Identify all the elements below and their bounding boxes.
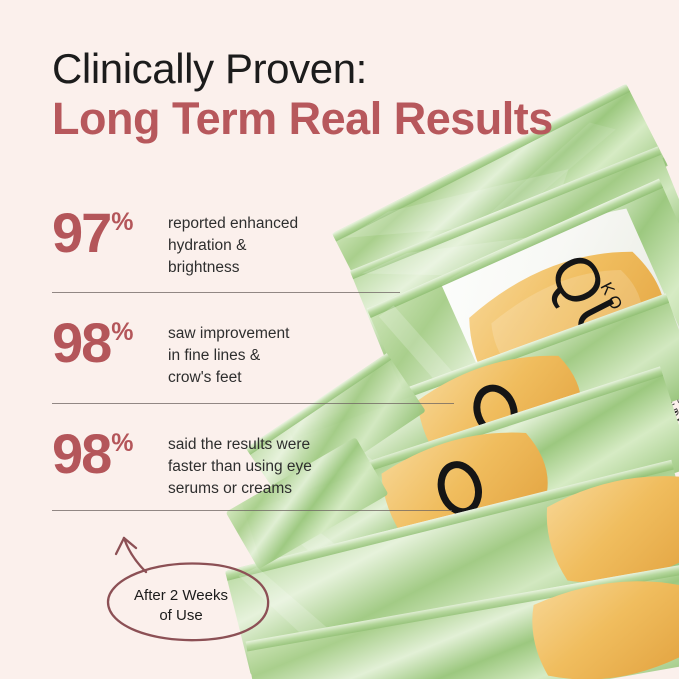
stat-row: 98 % saw improvement in fine lines & cro… xyxy=(52,317,404,389)
annotation-line-2: of Use xyxy=(88,606,274,626)
headline-line-2: Long Term Real Results xyxy=(52,94,612,144)
percent-symbol: % xyxy=(111,320,133,345)
stat-description: saw improvement in fine lines & crow's f… xyxy=(168,317,404,389)
stat-divider xyxy=(52,292,400,293)
stat-description-line: brightness xyxy=(168,257,404,279)
headline-block: Clinically Proven: Long Term Real Result… xyxy=(52,45,612,144)
text-content: Clinically Proven: Long Term Real Result… xyxy=(0,0,679,679)
stat-description-line: said the results were xyxy=(168,434,404,456)
stat-description-line: hydration & xyxy=(168,235,404,257)
stat-number: 97 xyxy=(52,207,110,259)
stat-figure: 98 % xyxy=(52,317,168,369)
stat-figure: 98 % xyxy=(52,428,168,480)
stat-description: said the results were faster than using … xyxy=(168,428,404,500)
stat-description-line: saw improvement xyxy=(168,323,404,345)
stat-divider xyxy=(52,403,454,404)
stat-row: 98 % said the results were faster than u… xyxy=(52,428,404,500)
stat-description-line: crow's feet xyxy=(168,367,404,389)
annotation-text: After 2 Weeks of Use xyxy=(88,586,274,627)
percent-symbol: % xyxy=(111,210,133,235)
stat-description-line: serums or creams xyxy=(168,478,404,500)
stat-figure: 97 % xyxy=(52,207,168,259)
stat-description: reported enhanced hydration & brightness xyxy=(168,207,404,279)
headline-line-1: Clinically Proven: xyxy=(52,45,612,92)
stat-row: 97 % reported enhanced hydration & brigh… xyxy=(52,207,404,279)
percent-symbol: % xyxy=(111,431,133,456)
stat-description-line: faster than using eye xyxy=(168,456,404,478)
stat-description-line: reported enhanced xyxy=(168,213,404,235)
annotation-block: After 2 Weeks of Use xyxy=(88,528,303,658)
stat-number: 98 xyxy=(52,317,110,369)
annotation-line-1: After 2 Weeks xyxy=(88,586,274,606)
stat-number: 98 xyxy=(52,428,110,480)
stat-divider xyxy=(52,510,452,511)
stat-description-line: in fine lines & xyxy=(168,345,404,367)
promo-graphic: QUIA KOREAN BEAUTY RETINOL COLL EYE GELS… xyxy=(0,0,679,679)
